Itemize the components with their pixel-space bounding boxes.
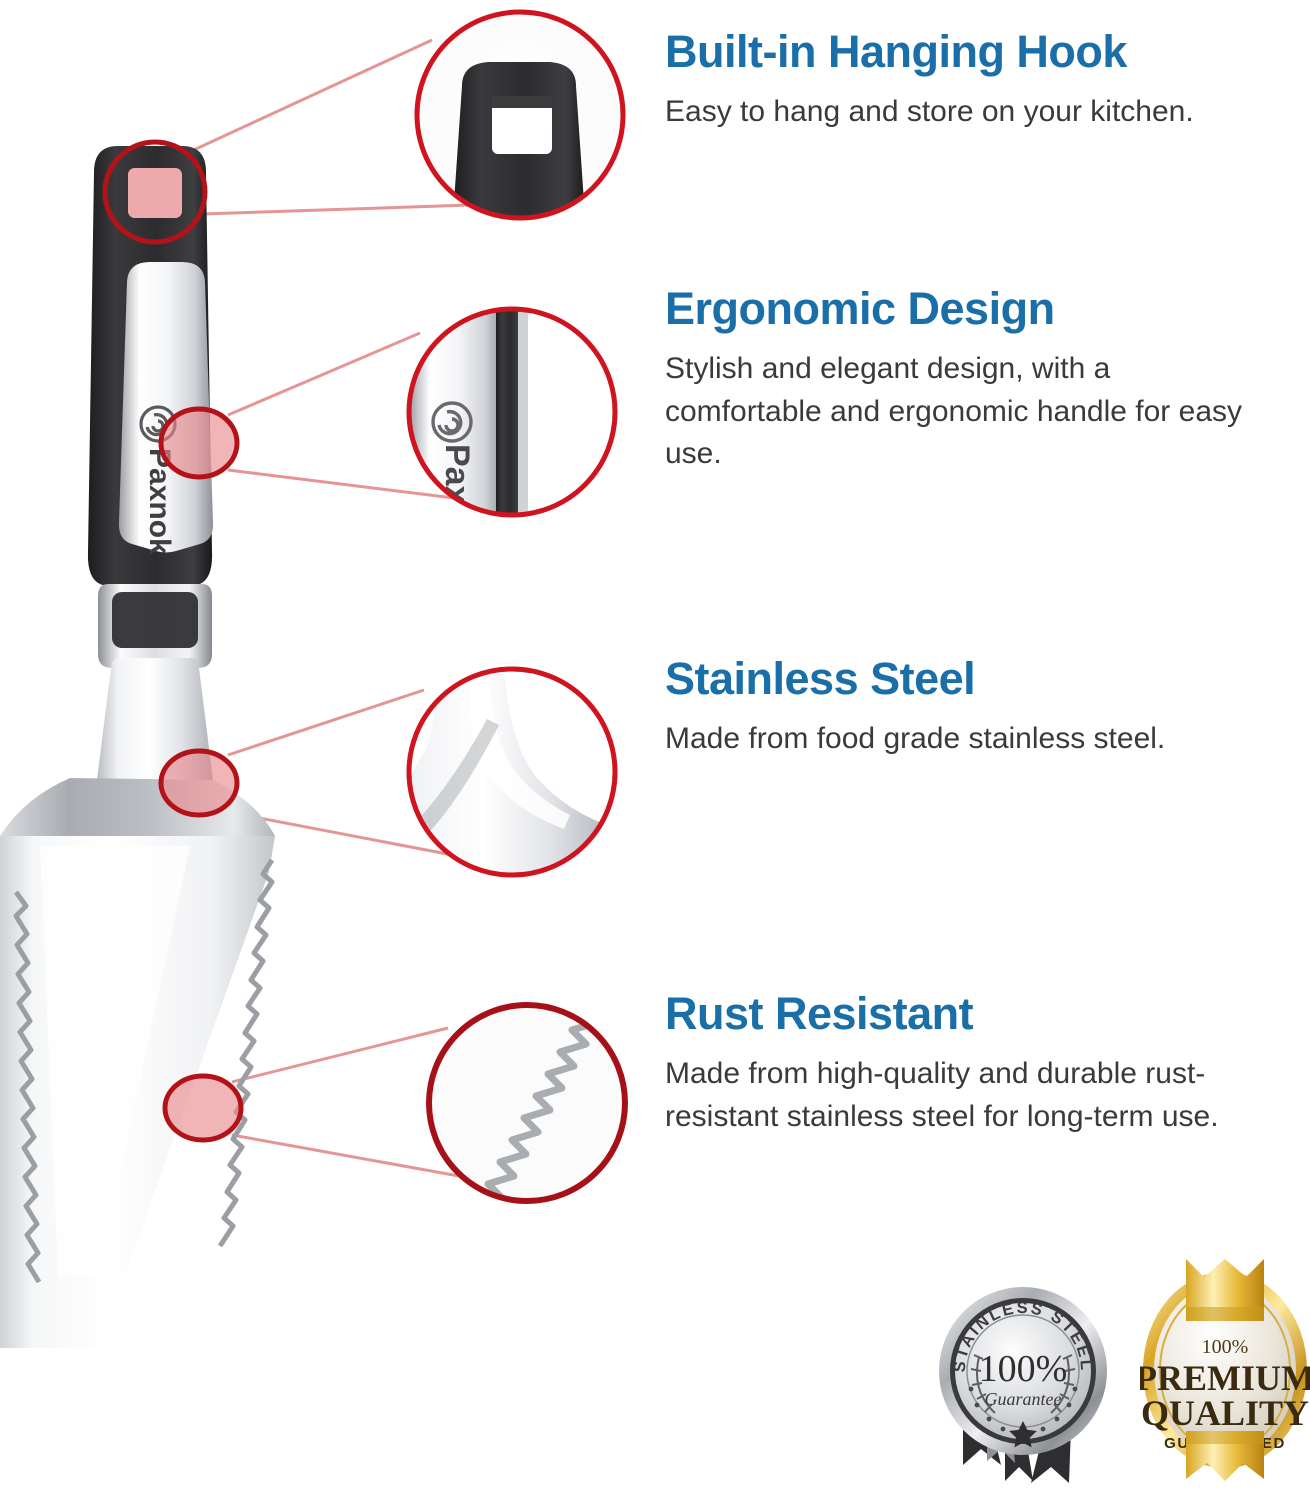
feature-stainless-steel: Stainless Steel Made from food grade sta… <box>665 655 1265 761</box>
feature-body: Made from food grade stainless steel. <box>665 718 1265 761</box>
badge-line1: PREMIUM <box>1140 1358 1310 1398</box>
quality-badges: STAINLESS STEEL 100% Guarantee <box>935 1245 1305 1500</box>
feature-title: Rust Resistant <box>665 990 1265 1037</box>
badge-percent: 100% <box>1202 1336 1249 1358</box>
callout-circle-ergonomic: Paxn <box>409 309 615 525</box>
feature-body: Stylish and elegant design, with a comfo… <box>665 348 1265 476</box>
ribbon-bottom <box>1186 1431 1264 1481</box>
marker-hanging-hook <box>128 168 182 218</box>
feature-title: Stainless Steel <box>665 655 1265 702</box>
feature-title: Ergonomic Design <box>665 285 1265 332</box>
ribbon-top <box>1186 1259 1264 1321</box>
ferrule-inset <box>112 592 198 648</box>
badge-percent: 100% <box>979 1348 1068 1390</box>
badge-stainless-steel-guarantee: STAINLESS STEEL 100% Guarantee <box>935 1273 1110 1493</box>
badge-line2: QUALITY <box>1141 1393 1309 1433</box>
feature-title: Built-in Hanging Hook <box>665 28 1265 75</box>
feature-body: Made from high-quality and durable rust-… <box>665 1053 1265 1138</box>
callout-circle-stainless <box>372 669 618 875</box>
callout-circle-hanging-hook <box>417 12 623 231</box>
feature-rust-resistant: Rust Resistant Made from high-quality an… <box>665 990 1265 1138</box>
feature-hanging-hook: Built-in Hanging Hook Easy to hang and s… <box>665 28 1265 134</box>
infographic-canvas: Paxnok <box>0 0 1310 1500</box>
feature-body: Easy to hang and store on your kitchen. <box>665 91 1265 134</box>
feature-ergonomic-design: Ergonomic Design Stylish and elegant des… <box>665 285 1265 476</box>
product-illustration: Paxnok <box>0 0 640 1400</box>
callout-circle-rust <box>429 1005 625 1206</box>
svg-text:Paxn: Paxn <box>438 444 476 525</box>
badge-sub: Guarantee <box>985 1389 1062 1409</box>
badge-premium-quality: 100% PREMIUM QUALITY GUARANTEED <box>1140 1245 1310 1495</box>
pie-server-product: Paxnok <box>0 146 275 1348</box>
